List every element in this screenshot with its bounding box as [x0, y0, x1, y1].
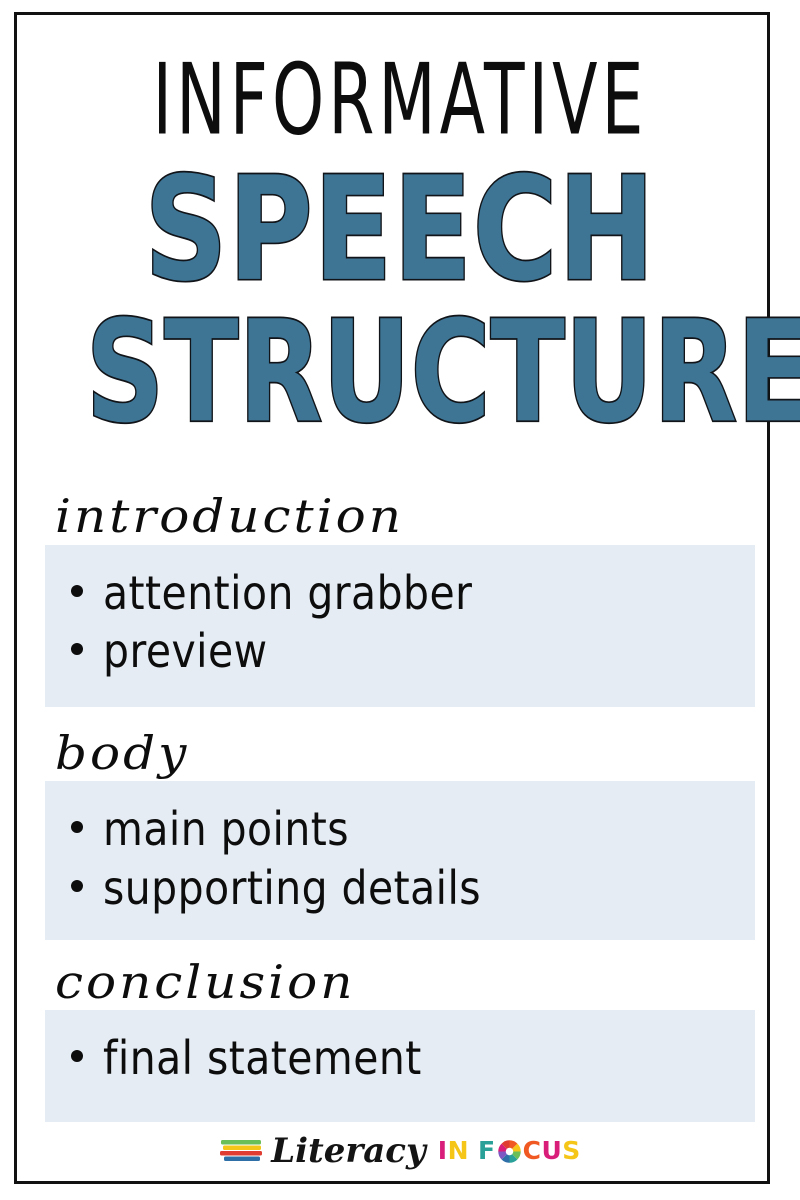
- sections-list: introduction attention grabber preview: [45, 488, 755, 1122]
- stacked-books-icon: [219, 1135, 265, 1165]
- camera-aperture-icon: [497, 1139, 522, 1164]
- poster-content: INFORMATIVE SPEECH STRUCTURE introductio…: [0, 0, 800, 1200]
- list-item-label: supporting details: [103, 858, 481, 920]
- section-conclusion: conclusion final statement: [45, 954, 755, 1123]
- page-title: INFORMATIVE: [116, 0, 684, 148]
- logo-text-cus: CUS: [523, 1136, 581, 1165]
- footer-logo: Literacy IN F CUS: [0, 1130, 800, 1170]
- bullet-dot-icon: [71, 880, 83, 892]
- poster: INFORMATIVE SPEECH STRUCTURE introductio…: [0, 0, 800, 1200]
- logo-in-focus: IN F CUS: [438, 1136, 581, 1165]
- section-label-conclusion: conclusion: [45, 958, 755, 1006]
- list-item-label: attention grabber: [103, 563, 472, 625]
- logo-letter-f: F: [478, 1136, 496, 1165]
- section-introduction: introduction attention grabber preview: [45, 488, 755, 707]
- section-label-body: body: [45, 729, 755, 777]
- headline-structure: STRUCTURE: [86, 303, 714, 443]
- list-item: attention grabber: [71, 565, 729, 623]
- bullet-dot-icon: [71, 821, 83, 833]
- list-item: preview: [71, 623, 729, 681]
- list-item-label: preview: [103, 621, 268, 683]
- bullet-box-body: main points supporting details: [45, 781, 755, 939]
- headline-speech: SPEECH: [81, 159, 720, 302]
- bullet-box-introduction: attention grabber preview: [45, 545, 755, 707]
- list-item-label: main points: [103, 800, 349, 862]
- section-body: body main points supporting details: [45, 725, 755, 940]
- section-label-introduction: introduction: [45, 493, 755, 541]
- bullet-dot-icon: [71, 643, 83, 655]
- bullet-dot-icon: [71, 1050, 83, 1062]
- list-item: supporting details: [71, 860, 729, 918]
- logo-script-literacy: Literacy: [271, 1131, 426, 1171]
- list-item-label: final statement: [103, 1028, 422, 1090]
- list-item: main points: [71, 801, 729, 859]
- bullet-box-conclusion: final statement: [45, 1010, 755, 1122]
- logo-text-in: IN: [438, 1136, 469, 1165]
- list-item: final statement: [71, 1030, 729, 1088]
- bullet-dot-icon: [71, 585, 83, 597]
